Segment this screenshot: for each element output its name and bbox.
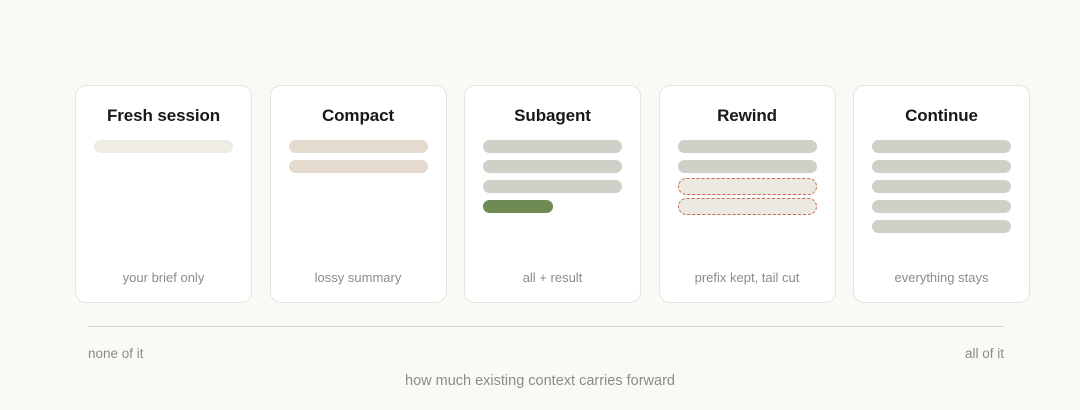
strategy-card-row: Fresh sessionyour brief onlyCompactlossy… <box>75 85 1030 303</box>
context-bar-gray <box>483 140 622 153</box>
strategy-card[interactable]: Rewindprefix kept, tail cut <box>659 85 836 303</box>
context-bar-gray <box>483 160 622 173</box>
axis-left-label: none of it <box>88 346 144 361</box>
context-bar-gray <box>678 140 817 153</box>
context-bar-dashed <box>678 198 817 215</box>
context-bar-green <box>483 200 553 213</box>
context-bar-stack <box>678 140 817 213</box>
card-title: Compact <box>322 106 394 126</box>
axis-right-label: all of it <box>965 346 1004 361</box>
context-bar-gray <box>872 140 1011 153</box>
card-caption: prefix kept, tail cut <box>695 270 800 286</box>
card-title: Rewind <box>717 106 777 126</box>
context-bar-faint <box>94 140 233 153</box>
context-bar-stack <box>94 140 233 153</box>
context-bar-gray <box>872 160 1011 173</box>
card-caption: everything stays <box>895 270 989 286</box>
context-bar-tan <box>289 160 428 173</box>
card-title: Continue <box>905 106 978 126</box>
card-caption: lossy summary <box>315 270 402 286</box>
context-bar-gray <box>483 180 622 193</box>
context-bar-stack <box>872 140 1011 233</box>
context-bar-gray <box>678 160 817 173</box>
context-bar-gray <box>872 180 1011 193</box>
context-bar-stack <box>289 140 428 173</box>
strategy-card[interactable]: Subagentall + result <box>464 85 641 303</box>
card-title: Subagent <box>514 106 591 126</box>
spectrum-axis-line <box>88 326 1004 327</box>
context-spectrum-diagram: Fresh sessionyour brief onlyCompactlossy… <box>0 0 1080 410</box>
strategy-card[interactable]: Compactlossy summary <box>270 85 447 303</box>
strategy-card[interactable]: Fresh sessionyour brief only <box>75 85 252 303</box>
context-bar-gray <box>872 220 1011 233</box>
spectrum-axis-labels: none of it all of it <box>88 346 1004 361</box>
card-caption: all + result <box>523 270 583 286</box>
context-bar-dashed <box>678 178 817 195</box>
axis-caption: how much existing context carries forwar… <box>0 373 1080 389</box>
context-bar-stack <box>483 140 622 213</box>
card-title: Fresh session <box>107 106 220 126</box>
strategy-card[interactable]: Continueeverything stays <box>853 85 1030 303</box>
context-bar-gray <box>872 200 1011 213</box>
card-caption: your brief only <box>123 270 205 286</box>
context-bar-tan <box>289 140 428 153</box>
